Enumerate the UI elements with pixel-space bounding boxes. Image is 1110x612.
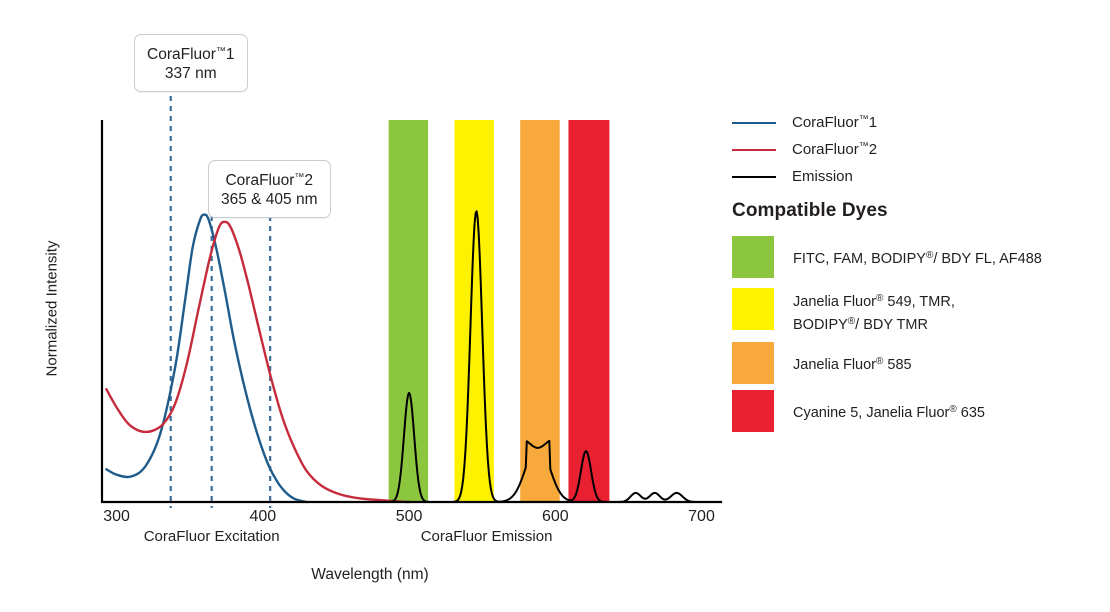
x-tick-300: 300: [97, 508, 137, 526]
x-tick-500: 500: [389, 508, 429, 526]
callout-corafluor2: CoraFluor™2 365 & 405 nm: [208, 160, 331, 218]
plot-area: CoraFluor™1 337 nm CoraFluor™2 365 & 405…: [0, 0, 740, 612]
x-tick-700: 700: [682, 508, 722, 526]
legend-swatch-line-2: [732, 176, 776, 178]
x-axis-title: Wavelength (nm): [0, 566, 740, 584]
legend-item-0: CoraFluor™1: [732, 114, 877, 131]
callout2-line1: CoraFluor™2: [225, 172, 313, 189]
legend-swatch-line-0: [732, 122, 776, 124]
legend-label-2: Emission: [792, 168, 853, 185]
dye-item-1: Janelia Fluor® 549, TMR,BODIPY®/ BDY TMR: [732, 288, 955, 335]
dye-label-0: FITC, FAM, BODIPY®/ BDY FL, AF488: [793, 236, 1042, 269]
compatible-dyes-title: Compatible Dyes: [732, 200, 888, 222]
legend-item-2: Emission: [732, 168, 853, 185]
emission-band-1: [454, 120, 493, 502]
spectra-figure: CoraFluor™1 337 nm CoraFluor™2 365 & 405…: [0, 0, 1110, 612]
legend-swatch-line-1: [732, 149, 776, 151]
series-path-1: [106, 222, 409, 502]
dye-item-0: FITC, FAM, BODIPY®/ BDY FL, AF488: [732, 236, 1042, 278]
dye-swatch-2: [732, 342, 774, 384]
dye-label-3: Cyanine 5, Janelia Fluor® 635: [793, 390, 985, 423]
x-axis-section-excitation: CoraFluor Excitation: [102, 528, 322, 545]
y-axis-title: Normalized Intensity: [44, 224, 61, 394]
legend-label-1: CoraFluor™2: [792, 141, 877, 158]
dye-item-3: Cyanine 5, Janelia Fluor® 635: [732, 390, 985, 432]
dye-item-2: Janelia Fluor® 585: [732, 342, 912, 384]
x-tick-600: 600: [535, 508, 575, 526]
callout1-line2: 337 nm: [147, 64, 235, 83]
callout2-line2: 365 & 405 nm: [221, 190, 318, 209]
legend-panel: CoraFluor™1CoraFluor™2Emission Compatibl…: [728, 0, 1110, 612]
emission-band-3: [568, 120, 609, 502]
callout1-line1: CoraFluor™1: [147, 46, 235, 63]
dye-label-2: Janelia Fluor® 585: [793, 342, 912, 375]
dye-swatch-0: [732, 236, 774, 278]
legend-label-0: CoraFluor™1: [792, 114, 877, 131]
legend-item-1: CoraFluor™2: [732, 141, 877, 158]
callout-corafluor1: CoraFluor™1 337 nm: [134, 34, 248, 92]
dye-label-1: Janelia Fluor® 549, TMR,BODIPY®/ BDY TMR: [793, 288, 955, 335]
x-tick-400: 400: [243, 508, 283, 526]
dye-swatch-3: [732, 390, 774, 432]
series-path-0: [106, 215, 306, 502]
x-axis-section-emission: CoraFluor Emission: [377, 528, 597, 545]
emission-band-0: [389, 120, 428, 502]
dye-swatch-1: [732, 288, 774, 330]
